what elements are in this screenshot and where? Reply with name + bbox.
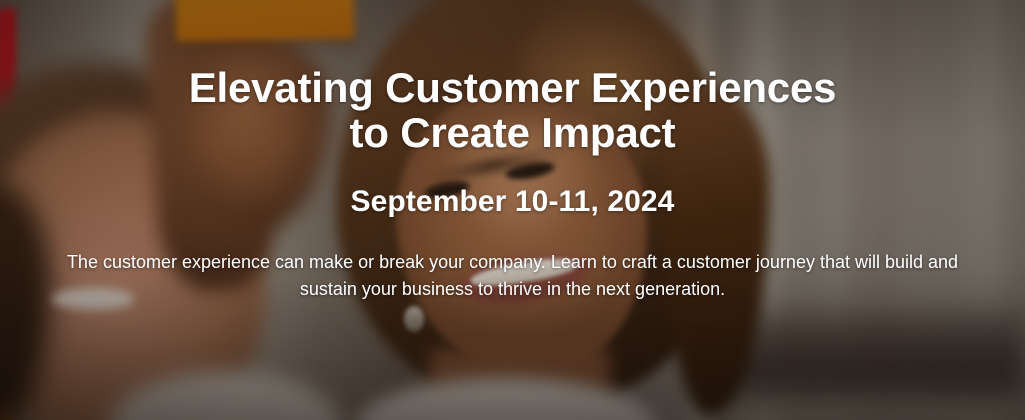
event-date: September 10-11, 2024 [351, 185, 675, 219]
hero-headline: Elevating Customer Experiences to Create… [189, 66, 837, 155]
hero-content: Elevating Customer Experiences to Create… [0, 0, 1025, 420]
hero-description: The customer experience can make or brea… [63, 249, 963, 302]
event-hero-banner: Elevating Customer Experiences to Create… [0, 0, 1025, 420]
